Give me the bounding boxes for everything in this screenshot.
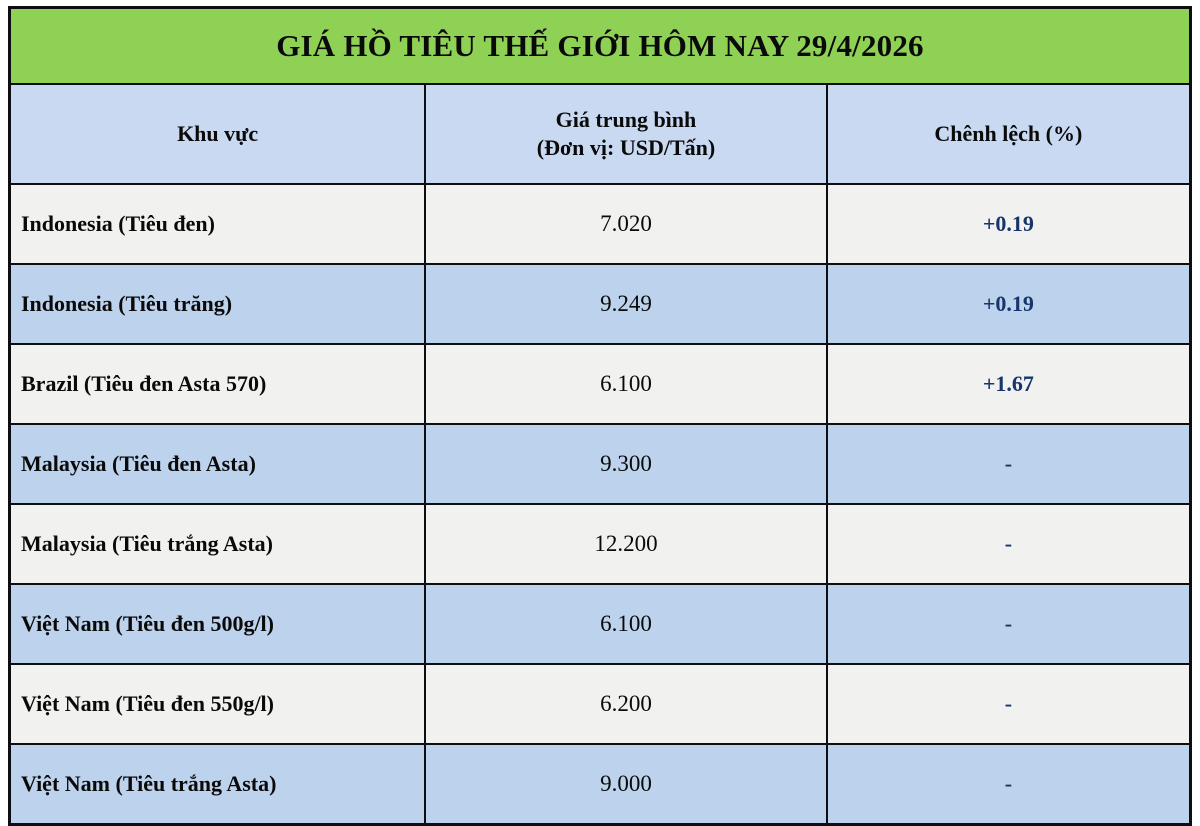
- page-title: GIÁ HỒ TIÊU THẾ GIỚI HÔM NAY 29/4/2026: [276, 28, 924, 63]
- table-row: Malaysia (Tiêu đen Asta)9.300-: [10, 424, 1191, 504]
- column-header-row: Khu vực Giá trung bình (Đơn vị: USD/Tấn)…: [10, 84, 1191, 184]
- cell-change-percent: -: [827, 424, 1191, 504]
- cell-change-percent: +0.19: [827, 184, 1191, 264]
- cell-change-percent: -: [827, 584, 1191, 664]
- table-row: Malaysia (Tiêu trắng Asta)12.200-: [10, 504, 1191, 584]
- cell-average-price: 7.020: [425, 184, 827, 264]
- table-row: Brazil (Tiêu đen Asta 570)6.100+1.67: [10, 344, 1191, 424]
- column-header-region: Khu vực: [10, 84, 426, 184]
- cell-average-price: 6.200: [425, 664, 827, 744]
- table-body: GIÁ HỒ TIÊU THẾ GIỚI HÔM NAY 29/4/2026 K…: [10, 8, 1191, 825]
- cell-average-price: 9.249: [425, 264, 827, 344]
- column-header-change: Chênh lệch (%): [827, 84, 1191, 184]
- column-header-change-label: Chênh lệch (%): [934, 121, 1082, 146]
- cell-region: Malaysia (Tiêu trắng Asta): [10, 504, 426, 584]
- table-row: Việt Nam (Tiêu đen 550g/l)6.200-: [10, 664, 1191, 744]
- table-title-cell: GIÁ HỒ TIÊU THẾ GIỚI HÔM NAY 29/4/2026: [10, 8, 1191, 85]
- cell-region: Indonesia (Tiêu đen): [10, 184, 426, 264]
- cell-region: Brazil (Tiêu đen Asta 570): [10, 344, 426, 424]
- cell-region: Việt Nam (Tiêu trắng Asta): [10, 744, 426, 825]
- cell-average-price: 9.000: [425, 744, 827, 825]
- cell-average-price: 6.100: [425, 584, 827, 664]
- cell-average-price: 9.300: [425, 424, 827, 504]
- cell-change-percent: -: [827, 664, 1191, 744]
- cell-change-percent: -: [827, 504, 1191, 584]
- cell-average-price: 6.100: [425, 344, 827, 424]
- table-row: Indonesia (Tiêu đen)7.020+0.19: [10, 184, 1191, 264]
- column-header-price-label: Giá trung bình: [436, 106, 816, 134]
- title-row: GIÁ HỒ TIÊU THẾ GIỚI HÔM NAY 29/4/2026: [10, 8, 1191, 85]
- cell-change-percent: -: [827, 744, 1191, 825]
- world-pepper-price-table: GIÁ HỒ TIÊU THẾ GIỚI HÔM NAY 29/4/2026 K…: [8, 6, 1192, 826]
- cell-average-price: 12.200: [425, 504, 827, 584]
- cell-change-percent: +0.19: [827, 264, 1191, 344]
- column-header-region-label: Khu vực: [177, 121, 258, 146]
- table-row: Indonesia (Tiêu trăng)9.249+0.19: [10, 264, 1191, 344]
- cell-change-percent: +1.67: [827, 344, 1191, 424]
- cell-region: Malaysia (Tiêu đen Asta): [10, 424, 426, 504]
- cell-region: Indonesia (Tiêu trăng): [10, 264, 426, 344]
- table-row: Việt Nam (Tiêu trắng Asta)9.000-: [10, 744, 1191, 825]
- pepper-price-sheet: GIÁ HỒ TIÊU THẾ GIỚI HÔM NAY 29/4/2026 K…: [0, 0, 1200, 804]
- cell-region: Việt Nam (Tiêu đen 550g/l): [10, 664, 426, 744]
- column-header-price-unit: (Đơn vị: USD/Tấn): [436, 134, 816, 162]
- column-header-price: Giá trung bình (Đơn vị: USD/Tấn): [425, 84, 827, 184]
- table-row: Việt Nam (Tiêu đen 500g/l)6.100-: [10, 584, 1191, 664]
- cell-region: Việt Nam (Tiêu đen 500g/l): [10, 584, 426, 664]
